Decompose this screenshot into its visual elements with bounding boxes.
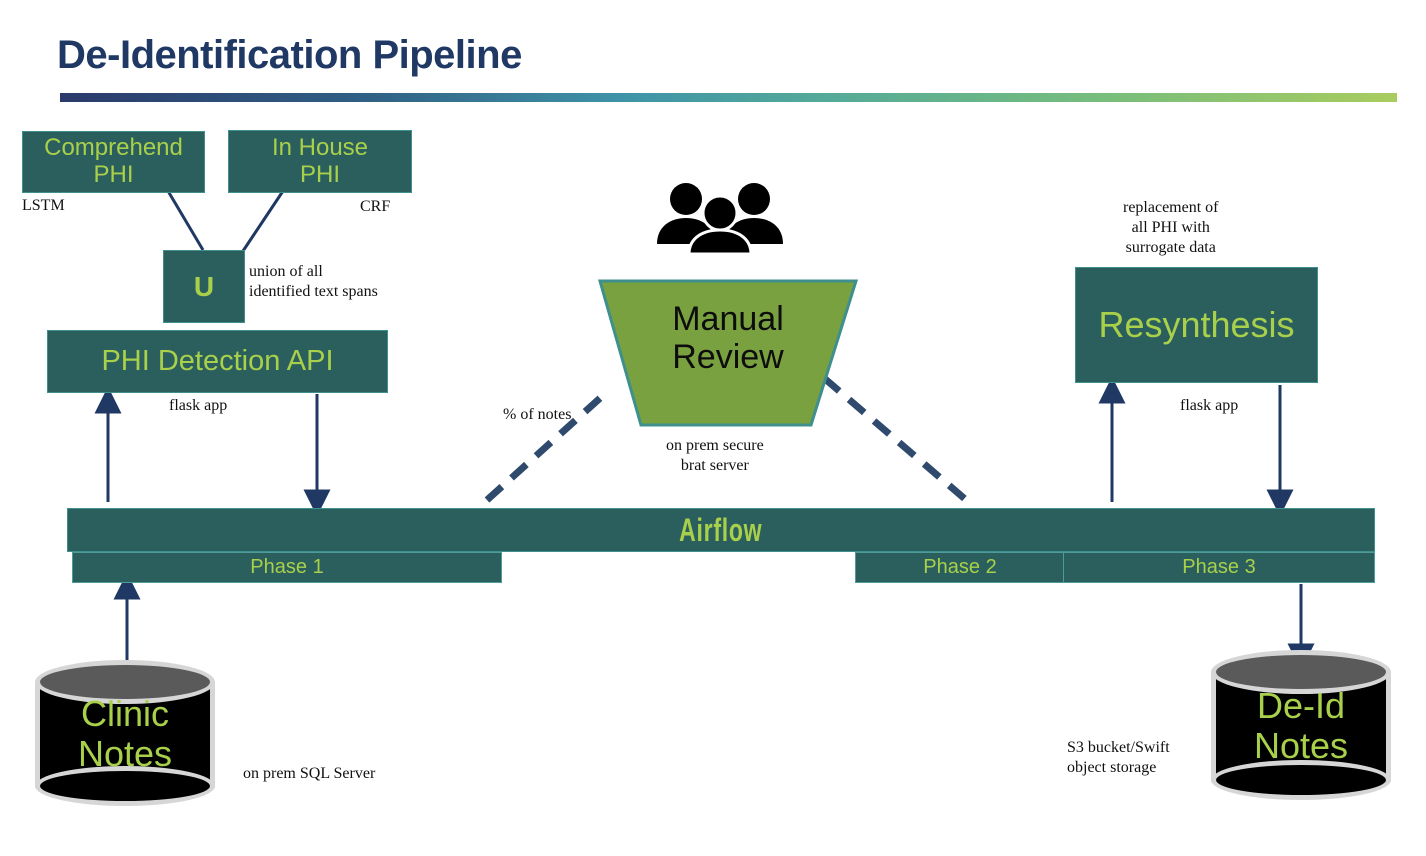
phase-bar-3-label: Phase 3 <box>1182 556 1255 579</box>
node-airflow-label: Airflow <box>679 512 762 549</box>
annotation-percent-of-notes: % of notes <box>503 405 571 425</box>
node-manual-review-label: Manual Review <box>597 300 859 376</box>
connector-inhouse-to-union <box>243 191 283 251</box>
annotation-flask-app-right: flask app <box>1180 396 1238 416</box>
node-union[interactable]: U <box>163 250 245 323</box>
node-in-house-phi[interactable]: In House PHI <box>228 130 412 193</box>
annotation-lstm: LSTM <box>22 196 65 216</box>
node-comprehend-phi-label: Comprehend PHI <box>44 135 183 189</box>
annotation-replacement: replacement of all PHI with surrogate da… <box>1123 198 1219 258</box>
phase-bar-2[interactable]: Phase 2 <box>855 552 1065 583</box>
node-union-label: U <box>194 271 214 302</box>
annotation-sql-server: on prem SQL Server <box>243 764 375 784</box>
people-icon <box>655 182 785 254</box>
page-title: De-Identification Pipeline <box>57 33 522 78</box>
annotation-crf: CRF <box>360 197 390 217</box>
node-airflow[interactable]: Airflow <box>67 508 1375 552</box>
node-phi-detection-api-label: PHI Detection API <box>101 345 333 377</box>
node-in-house-phi-label: In House PHI <box>272 135 368 189</box>
phase-bar-3[interactable]: Phase 3 <box>1063 552 1375 583</box>
diagram-canvas: De-Identification Pipeline Comprehend PH… <box>0 0 1426 856</box>
phase-bar-2-label: Phase 2 <box>923 556 996 579</box>
node-resynthesis[interactable]: Resynthesis <box>1075 267 1318 383</box>
node-phi-detection-api[interactable]: PHI Detection API <box>47 330 388 393</box>
annotation-brat-server: on prem secure brat server <box>666 436 764 476</box>
phase-bar-1-label: Phase 1 <box>250 556 323 579</box>
annotation-union: union of all identified text spans <box>249 262 378 302</box>
node-comprehend-phi[interactable]: Comprehend PHI <box>22 131 205 193</box>
phase-bar-1[interactable]: Phase 1 <box>72 552 502 583</box>
title-gradient-rule <box>60 93 1397 102</box>
annotation-object-storage: S3 bucket/Swift object storage <box>1067 738 1170 778</box>
node-resynthesis-label: Resynthesis <box>1098 305 1294 345</box>
datastore-clinic-notes[interactable]: Clinic Notes <box>35 660 215 810</box>
datastore-deid-notes[interactable]: De-Id Notes <box>1211 650 1391 805</box>
connector-comprehend-to-union <box>168 191 203 250</box>
datastore-clinic-notes-label: Clinic Notes <box>35 694 215 775</box>
annotation-flask-app-left: flask app <box>169 396 227 416</box>
datastore-deid-notes-label: De-Id Notes <box>1211 686 1391 767</box>
